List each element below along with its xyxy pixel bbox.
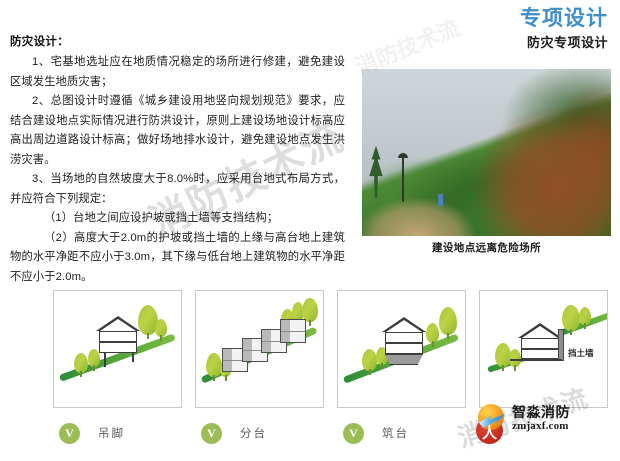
tree-trunk <box>381 363 383 369</box>
scene-terraced <box>196 291 323 407</box>
section-title: 防灾设计： <box>10 33 345 49</box>
paragraph-3: 3、当场地的自然坡度大于8.0%时，应采用台地式布局方式，并应符合下列规定： <box>10 170 345 209</box>
check-badge-icon: V <box>59 423 80 444</box>
tree-crown <box>439 307 457 335</box>
tree-upper-small <box>579 307 591 325</box>
paragraph-1: 1、宅基地选址应在地质情况稳定的场所进行修建，避免建设区域发生地质灾害； <box>10 53 345 92</box>
scene-stilt <box>54 291 181 407</box>
tree-crown <box>74 353 88 373</box>
house-floor-line <box>522 348 558 350</box>
diagram-terraced <box>195 290 324 408</box>
tree-trunk <box>225 375 227 381</box>
caption-label: 吊脚 <box>98 425 125 441</box>
check-badge-icon: V <box>343 423 364 444</box>
photo-image <box>362 69 611 236</box>
tree-trunk <box>369 369 371 375</box>
tree-small-right <box>155 319 167 337</box>
scene-retaining-wall: 挡土墙 <box>480 291 607 407</box>
terrace-block-4 <box>280 319 306 343</box>
tree-trunk <box>93 365 95 371</box>
tree-trunk <box>213 375 215 381</box>
house-body <box>385 332 423 354</box>
tree-crown <box>362 349 377 371</box>
brand-logo-watermark: 人 智淼消防 zmjaxf.com <box>476 400 606 446</box>
tree-upper-large <box>562 305 580 331</box>
logo-domain: zmjaxf.com <box>512 420 569 432</box>
logo-glyph: 人 <box>482 422 497 443</box>
photo-utility-pole <box>402 156 404 202</box>
tree-trunk <box>80 371 82 377</box>
tree-trunk <box>584 323 586 329</box>
built-platform <box>385 354 423 365</box>
paragraph-3-2: （2）高度大于2.0m的护坡或挡土墙的上缘与高台地上建筑物的水平净距不应小于3.… <box>10 229 345 288</box>
document-text-column: 防灾设计： 1、宅基地选址应在地质情况稳定的场所进行修建，避免建设区域发生地质灾… <box>10 33 345 287</box>
tree-trunk <box>502 365 504 371</box>
diagram-platform <box>337 290 466 408</box>
retaining-wall <box>558 329 564 361</box>
page-subtitle: 防灾专项设计 <box>520 36 608 49</box>
house-floor-line <box>386 342 422 344</box>
retaining-wall-label: 挡土墙 <box>568 347 594 359</box>
tree-trunk <box>514 365 516 371</box>
tree-crown <box>426 323 439 343</box>
stilt-leg-right <box>132 353 134 362</box>
ground-line-under-house <box>510 359 562 361</box>
house-roof <box>382 317 426 332</box>
paragraph-2: 2、总图设计时遵循《城乡建设用地竖向规划规范》要求，应结合建设地点实际情况进行防… <box>10 92 345 170</box>
hazard-site-photo <box>362 69 611 236</box>
tree-lower-b <box>509 349 521 367</box>
house-roof <box>96 316 140 331</box>
scene-platform <box>338 291 465 407</box>
diagram-panel-row: 挡土墙 <box>53 290 608 408</box>
logo-mark-icon: 人 <box>476 404 510 438</box>
logo-brand-name: 智淼消防 <box>512 402 570 422</box>
tree-trunk <box>147 333 149 339</box>
stilt-leg-left <box>104 353 106 367</box>
tree-crown <box>562 305 580 331</box>
tree-trunk <box>570 329 572 335</box>
page-header: 专项设计 防灾专项设计 <box>520 8 608 49</box>
terrace-line <box>281 331 305 332</box>
house-floor-line <box>100 341 136 343</box>
tree-trunk <box>447 333 449 339</box>
tree-top-large <box>439 307 457 335</box>
caption-terraced: V 分台 <box>195 418 324 448</box>
tree-trunk <box>432 341 434 347</box>
diagram-stilt-house <box>53 290 182 408</box>
tree-left-a <box>362 349 377 371</box>
caption-stilt: V 吊脚 <box>53 418 182 448</box>
caption-label: 筑台 <box>382 425 409 441</box>
photo-caption: 建设地点远离危险场所 <box>362 240 611 255</box>
page-title: 专项设计 <box>520 8 608 29</box>
caption-platform: V 筑台 <box>337 418 466 448</box>
tree-top-small <box>426 323 439 343</box>
tree-trunk <box>309 320 311 326</box>
tree-small-left-a <box>74 353 88 373</box>
house-body <box>521 338 559 359</box>
check-badge-icon: V <box>201 423 222 444</box>
tree-trunk <box>160 335 162 341</box>
diagram-retaining-wall: 挡土墙 <box>479 290 608 408</box>
house-roof <box>518 323 562 338</box>
house-body <box>99 331 137 353</box>
paragraph-3-1: （1）台地之间应设护坡或挡土墙等支挡结构； <box>10 209 345 229</box>
photo-person <box>438 194 443 206</box>
caption-label: 分台 <box>240 425 267 441</box>
